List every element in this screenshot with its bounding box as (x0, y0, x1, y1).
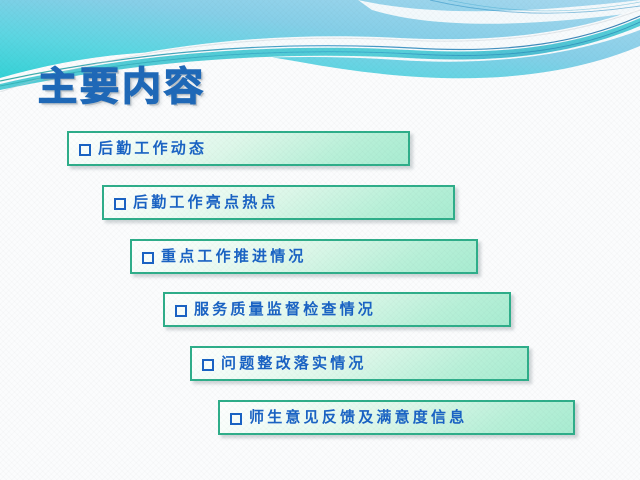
list-item-label: 重点工作推进情况 (161, 249, 307, 264)
list-item-label: 后勤工作亮点热点 (133, 195, 279, 210)
checkbox-icon (142, 252, 154, 264)
presentation-slide: 主要内容 后勤工作动态 后勤工作亮点热点 重点工作推进情况 服务质量监督检查情况… (0, 0, 640, 480)
checkbox-icon (114, 198, 126, 210)
list-item-label: 后勤工作动态 (98, 141, 207, 156)
list-item[interactable]: 问题整改落实情况 (190, 346, 529, 381)
checkbox-icon (202, 359, 214, 371)
checkbox-icon (175, 305, 187, 317)
list-item[interactable]: 后勤工作亮点热点 (102, 185, 455, 220)
list-item[interactable]: 后勤工作动态 (67, 131, 410, 166)
list-item[interactable]: 服务质量监督检查情况 (163, 292, 511, 327)
page-title: 主要内容 (38, 68, 206, 107)
checkbox-icon (230, 413, 242, 425)
list-item-label: 问题整改落实情况 (221, 356, 367, 371)
list-item[interactable]: 重点工作推进情况 (130, 239, 478, 274)
list-item-label: 师生意见反馈及满意度信息 (249, 410, 467, 425)
list-item-label: 服务质量监督检查情况 (194, 302, 376, 317)
list-item[interactable]: 师生意见反馈及满意度信息 (218, 400, 575, 435)
checkbox-icon (79, 144, 91, 156)
